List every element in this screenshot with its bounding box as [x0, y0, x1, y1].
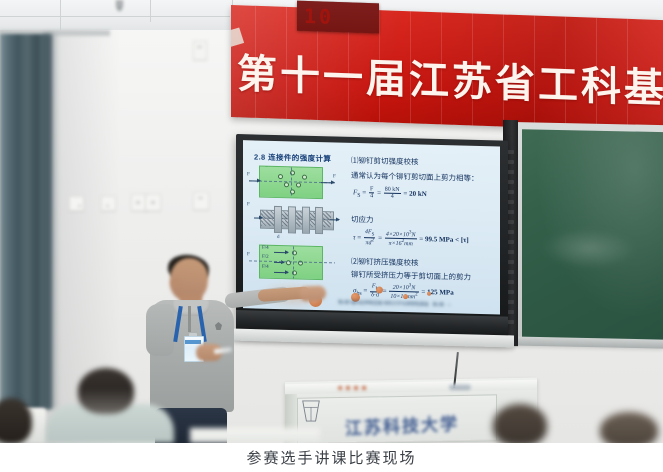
slide-line-3: 切应力: [351, 214, 374, 226]
slide-footer-circle: [403, 294, 408, 299]
presenter-pointing-hand: [300, 285, 327, 301]
lectern-university-name: 江苏科技大学: [345, 410, 460, 440]
force-label: F: [247, 252, 250, 257]
slide-footer-circle: [427, 292, 431, 296]
curtain-edge-shadow: [44, 34, 58, 409]
force-label: F: [247, 202, 250, 207]
equation-bearing-stress: σbs = Fbδ·d = 20×103N10×16mm2 = 125 MPa: [353, 282, 454, 302]
slide-title: 2.8 连接件的强度计算: [254, 151, 331, 164]
force-fraction-label: F/4: [262, 246, 269, 251]
audience-head: [493, 404, 547, 443]
equation-shear-force: FS = F4 = 80 kN4 = 20 kN: [353, 186, 427, 201]
force-arrow-left: [249, 180, 260, 181]
slide-footer-circle: [376, 286, 383, 293]
slide-line-1: ⑴铆钉剪切强度校核: [351, 155, 419, 168]
figure-caption: 参赛选手讲课比赛现场: [0, 443, 663, 472]
slide-line-5: 铆钉所受挤压力等于剪切面上的剪力: [351, 269, 471, 283]
front-desk: [190, 428, 320, 443]
wall-switch-plate: [69, 196, 84, 211]
slide-line-4: ⑵铆钉挤压强度校核: [351, 256, 419, 269]
presenter-shirt-placket: [188, 306, 191, 332]
equation-shear-stress: τ = 4FSπd2 = 4×20×103Nπ×162mm = 99.5 MPa…: [353, 229, 469, 250]
interactive-smart-board[interactable]: 2.8 连接件的强度计算 【例2-10】解 ⑴铆钉剪切强度校核 通常认为每个铆钉…: [236, 134, 508, 341]
sprinkler-head-icon: [116, 0, 123, 9]
presenter-ear: [172, 278, 179, 288]
lectern-controls[interactable]: [338, 386, 368, 390]
force-label: F: [333, 174, 336, 179]
presenter-left-sleeve: [146, 304, 174, 356]
audience-head: [600, 412, 658, 443]
force-fraction-label: F/4: [262, 265, 269, 270]
dimension-label: d: [277, 235, 280, 240]
figure-rivet-section: [254, 200, 338, 236]
ceiling-tile-line: [0, 16, 230, 17]
ceiling-tile-line: [60, 0, 61, 30]
force-label: F: [247, 172, 250, 177]
photo-figure: 第十一届江苏省工科基础力学青年 10 44 2.8: [0, 0, 663, 472]
banner-overlay-on-clock: [297, 1, 379, 34]
wall-outlet-plate: [193, 192, 209, 210]
chalkboard-smudge: [541, 228, 636, 270]
chalkboard: [513, 122, 663, 347]
badge-header-bar: [185, 340, 201, 344]
wall-sensor-plate: [193, 41, 207, 60]
slide-line-2: 通常认为每个铆钉剪切面上剪力相等：: [351, 170, 479, 184]
wall-switch-plate: [101, 196, 116, 211]
photograph: 第十一届江苏省工科基础力学青年 10 44 2.8: [0, 0, 663, 443]
audience-head: [78, 368, 134, 414]
microphone-base: [449, 384, 471, 390]
university-emblem-icon: [300, 398, 322, 424]
caption-text: 参赛选手讲课比赛现场: [246, 447, 416, 468]
wall-outlet-plate: [145, 194, 161, 211]
ceiling-tile-line: [150, 0, 151, 22]
event-banner: 第十一届江苏省工科基础力学青年: [231, 5, 663, 132]
force-fraction-label: F/2: [262, 255, 269, 260]
